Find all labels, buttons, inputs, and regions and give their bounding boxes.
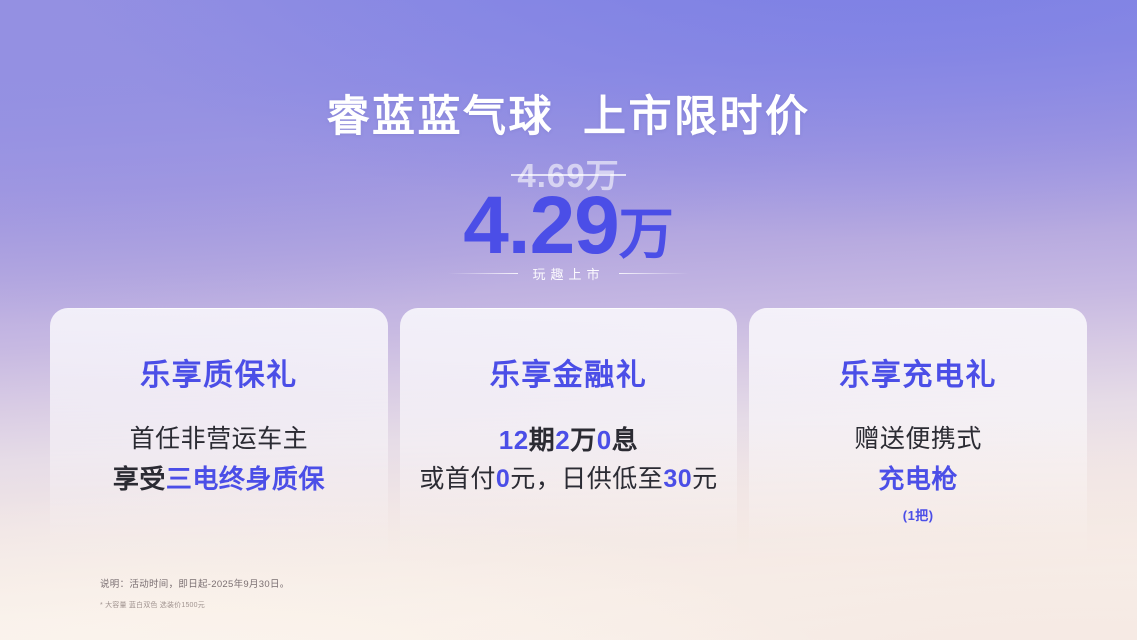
term-count: 12	[499, 425, 529, 455]
benefit-card-charging: 乐享充电礼 赠送便携式 充电枪 (1把)	[749, 308, 1087, 568]
footnotes: 说明：活动时间，即日起-2025年9月30日。 * 大容量 蓝白双色 选装价15…	[100, 577, 290, 610]
card-title: 乐享质保礼	[50, 350, 388, 394]
loan-amount-unit: 万	[570, 425, 597, 455]
card-body: 首任非营运车主 享受三电终身质保	[50, 420, 388, 499]
footnote-period: 说明：活动时间，即日起-2025年9月30日。	[100, 577, 290, 592]
card-line-1: 12期2万0息	[400, 420, 738, 460]
interest-value: 0	[597, 425, 612, 455]
card-line-2: 享受三电终身质保	[50, 459, 388, 499]
footnote-option: * 大容量 蓝白双色 选装价1500元	[100, 600, 290, 610]
benefit-card-warranty: 乐享质保礼 首任非营运车主 享受三电终身质保	[50, 308, 388, 568]
tagline-rule-right	[619, 273, 689, 274]
card-line-2: 或首付0元，日供低至30元	[400, 460, 738, 499]
tagline: 玩趣上市	[0, 264, 1137, 283]
benefit-cards: 乐享质保礼 首任非营运车主 享受三电终身质保 乐享金融礼 12期2万0息 或首付…	[50, 308, 1087, 568]
promo-price-unit: 万	[619, 203, 674, 265]
downpayment-label: 或首付	[419, 465, 496, 493]
benefit-card-finance: 乐享金融礼 12期2万0息 或首付0元，日供低至30元	[400, 308, 738, 568]
page-title: 睿蓝蓝气球 上市限时价	[0, 82, 1137, 144]
card-line-2-highlight: 三电终身质保	[166, 464, 325, 494]
card-body: 12期2万0息 或首付0元，日供低至30元	[400, 420, 738, 499]
term-unit: 期	[529, 425, 556, 455]
card-line-1: 赠送便携式	[749, 420, 1087, 459]
daily-unit: 元	[692, 465, 718, 493]
promo-price-number: 4.29	[463, 180, 619, 271]
card-line-2: 充电枪	[749, 459, 1087, 499]
tagline-text: 玩趣上市	[532, 264, 604, 283]
card-quantity-note: (1把)	[749, 505, 1087, 524]
card-line-1: 首任非营运车主	[50, 420, 388, 459]
card-body: 赠送便携式 充电枪 (1把)	[749, 420, 1087, 524]
promo-price: 4.29万	[0, 185, 1137, 267]
loan-amount: 2	[555, 425, 570, 455]
daily-value: 30	[663, 465, 692, 493]
promo-poster: 睿蓝蓝气球 上市限时价 4.69万 4.29万 玩趣上市 乐享质保礼 首任非营运…	[0, 0, 1137, 640]
card-title: 乐享金融礼	[400, 350, 738, 394]
card-line-2-prefix: 享受	[113, 464, 166, 494]
daily-label: 元，日供低至	[510, 465, 663, 493]
downpayment-value: 0	[496, 465, 510, 493]
tagline-rule-left	[448, 273, 518, 274]
card-title: 乐享充电礼	[749, 350, 1087, 394]
interest-label: 息	[612, 425, 639, 455]
